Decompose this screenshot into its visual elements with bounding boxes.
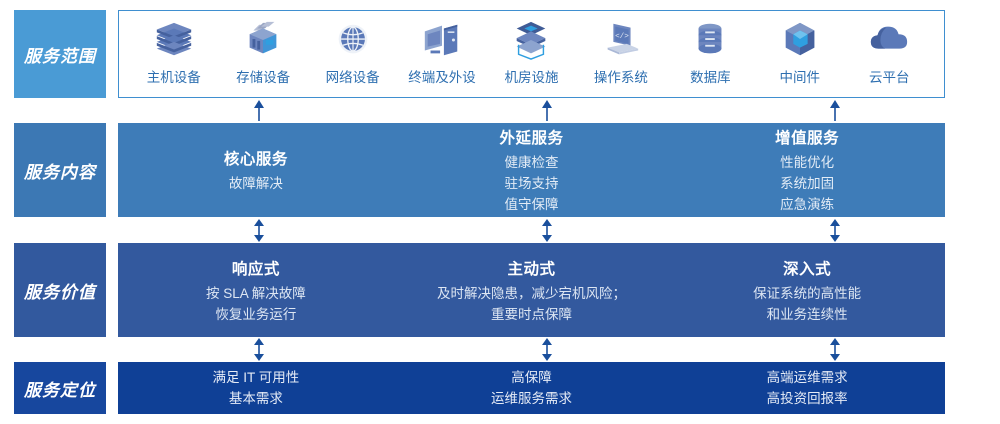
middleware-cube-icon <box>777 19 823 61</box>
value-cell-proactive[interactable]: 主动式 及时解决隐患，减少宕机风险； 重要时点保障 <box>394 257 670 324</box>
os-laptop-icon: </> <box>598 19 644 61</box>
cell-lines: 性能优化 系统加固 应急演练 <box>780 154 834 213</box>
cell-line: 基本需求 <box>212 390 299 408</box>
cell-line: 高投资回报率 <box>767 390 848 408</box>
cell-lines: 按 SLA 解决故障 恢复业务运行 <box>206 285 306 324</box>
cell-line: 重要时点保障 <box>437 306 626 324</box>
scope-item-storage-devices[interactable]: 存储设备 <box>218 19 307 86</box>
scope-item-label: 云平台 <box>869 66 910 86</box>
cell-line: 和业务连续性 <box>753 306 861 324</box>
scope-item-label: 数据库 <box>690 66 731 86</box>
cell-line: 及时解决隐患，减少宕机风险； <box>437 285 626 303</box>
cell-lines: 满足 IT 可用性 基本需求 <box>212 369 299 408</box>
cell-title: 深入式 <box>783 257 831 279</box>
content-cell-core-service[interactable]: 核心服务 故障解决 <box>118 147 394 193</box>
server-stack-icon <box>151 19 197 61</box>
scope-item-host-devices[interactable]: 主机设备 <box>129 19 218 86</box>
service-value-panel: 响应式 按 SLA 解决故障 恢复业务运行 主动式 及时解决隐患，减少宕机风险；… <box>118 243 945 337</box>
scope-item-label: 主机设备 <box>147 66 201 86</box>
connector-scope-to-content-1 <box>252 100 266 121</box>
cell-line: 应急演练 <box>780 196 834 214</box>
scope-item-label: 存储设备 <box>236 66 290 86</box>
scope-item-label: 网络设备 <box>326 66 380 86</box>
cell-line: 保证系统的高性能 <box>753 285 861 303</box>
scope-item-label: 中间件 <box>780 66 821 86</box>
cell-line: 运维服务需求 <box>491 390 572 408</box>
cell-line: 恢复业务运行 <box>206 306 306 324</box>
connector-scope-to-content-3 <box>828 100 842 121</box>
cell-lines: 高保障 运维服务需求 <box>491 369 572 408</box>
cell-line: 高保障 <box>491 369 572 387</box>
service-framework-diagram: 服务范围 主机设备 <box>0 0 1000 424</box>
service-positioning-panel: 满足 IT 可用性 基本需求 高保障 运维服务需求 高端运维需求 高投资回报率 <box>118 362 945 414</box>
row-label-service-content: 服务内容 <box>14 123 106 217</box>
scope-item-label: 终端及外设 <box>408 66 476 86</box>
scope-item-middleware[interactable]: 中间件 <box>755 19 844 86</box>
position-cell-high-end[interactable]: 高端运维需求 高投资回报率 <box>669 369 945 408</box>
scope-item-terminal-peripherals[interactable]: 终端及外设 <box>397 19 486 86</box>
row-service-value: 服务价值 响应式 按 SLA 解决故障 恢复业务运行 主动式 及时解决隐患，减少… <box>0 243 1000 337</box>
content-cell-extended-service[interactable]: 外延服务 健康检查 驻场支持 值守保障 <box>394 126 670 213</box>
row-service-scope: 服务范围 主机设备 <box>0 10 1000 98</box>
row-label-service-scope: 服务范围 <box>14 10 106 98</box>
cell-lines: 及时解决隐患，减少宕机风险； 重要时点保障 <box>437 285 626 324</box>
desktop-pc-icon <box>419 19 465 61</box>
database-icon <box>687 19 733 61</box>
cell-line: 性能优化 <box>780 154 834 172</box>
cell-line: 按 SLA 解决故障 <box>206 285 306 303</box>
service-content-panel: 核心服务 故障解决 外延服务 健康检查 驻场支持 值守保障 增值服务 性能优化 … <box>118 123 945 217</box>
cell-title: 增值服务 <box>775 126 839 148</box>
cell-line: 健康检查 <box>505 154 559 172</box>
storage-array-icon <box>240 19 286 61</box>
cell-lines: 故障解决 <box>229 175 283 193</box>
cell-line: 满足 IT 可用性 <box>212 369 299 387</box>
data-center-icon <box>508 19 554 61</box>
globe-network-icon <box>330 19 376 61</box>
scope-item-label: 操作系统 <box>594 66 648 86</box>
cell-lines: 保证系统的高性能 和业务连续性 <box>753 285 861 324</box>
content-cell-value-added-service[interactable]: 增值服务 性能优化 系统加固 应急演练 <box>669 126 945 213</box>
cloud-icon <box>866 19 912 61</box>
connector-value-to-position-2 <box>540 338 554 361</box>
value-cell-indepth[interactable]: 深入式 保证系统的高性能 和业务连续性 <box>669 257 945 324</box>
scope-item-data-center-facility[interactable]: 机房设施 <box>487 19 576 86</box>
cell-line: 系统加固 <box>780 175 834 193</box>
cell-line: 高端运维需求 <box>767 369 848 387</box>
position-cell-basic[interactable]: 满足 IT 可用性 基本需求 <box>118 369 394 408</box>
service-scope-panel: 主机设备 存储设备 <box>118 10 945 98</box>
position-cell-high-assurance[interactable]: 高保障 运维服务需求 <box>394 369 670 408</box>
connector-value-to-position-1 <box>252 338 266 361</box>
scope-item-label: 机房设施 <box>504 66 558 86</box>
scope-item-database[interactable]: 数据库 <box>666 19 755 86</box>
scope-item-network-devices[interactable]: 网络设备 <box>308 19 397 86</box>
cell-line: 驻场支持 <box>505 175 559 193</box>
connector-value-to-position-3 <box>828 338 842 361</box>
connector-content-to-value-1 <box>252 219 266 242</box>
cell-title: 外延服务 <box>500 126 564 148</box>
cell-line: 故障解决 <box>229 175 283 193</box>
cell-title: 响应式 <box>232 257 280 279</box>
scope-item-operating-system[interactable]: </> 操作系统 <box>576 19 665 86</box>
connector-scope-to-content-2 <box>540 100 554 121</box>
row-service-content: 服务内容 核心服务 故障解决 外延服务 健康检查 驻场支持 值守保障 增值服务 <box>0 123 1000 217</box>
connector-content-to-value-3 <box>828 219 842 242</box>
cell-line: 值守保障 <box>505 196 559 214</box>
row-label-service-positioning: 服务定位 <box>14 362 106 414</box>
cell-title: 主动式 <box>508 257 556 279</box>
cell-lines: 高端运维需求 高投资回报率 <box>767 369 848 408</box>
value-cell-responsive[interactable]: 响应式 按 SLA 解决故障 恢复业务运行 <box>118 257 394 324</box>
connector-content-to-value-2 <box>540 219 554 242</box>
cell-title: 核心服务 <box>224 147 288 169</box>
svg-text:</>: </> <box>615 33 629 41</box>
row-service-positioning: 服务定位 满足 IT 可用性 基本需求 高保障 运维服务需求 高端运维需求 高投… <box>0 362 1000 414</box>
cell-lines: 健康检查 驻场支持 值守保障 <box>505 154 559 213</box>
scope-item-cloud-platform[interactable]: 云平台 <box>845 19 934 86</box>
row-label-service-value: 服务价值 <box>14 243 106 337</box>
